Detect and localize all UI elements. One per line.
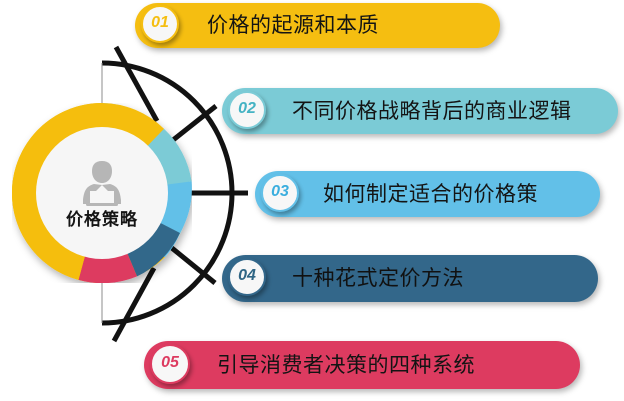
center-hub[interactable]: 价格策略 [12, 103, 192, 283]
item-badge-01[interactable]: 01 [141, 5, 179, 43]
businessperson-icon [76, 159, 128, 209]
item-bar-03[interactable]: 如何制定适合的价格策 [255, 171, 600, 217]
item-badge-04[interactable]: 04 [228, 258, 266, 296]
item-badge-02[interactable]: 02 [228, 91, 266, 129]
infographic-canvas: 价格策略 价格的起源和本质 01 不同价格战略背后的商业逻辑 02 如何制定适合… [0, 0, 624, 401]
item-label-02: 不同价格战略背后的商业逻辑 [292, 101, 572, 122]
item-badge-05[interactable]: 05 [150, 344, 190, 384]
item-label-01: 价格的起源和本质 [207, 15, 379, 36]
item-bar-01[interactable]: 价格的起源和本质 [135, 3, 500, 48]
item-number-05: 05 [161, 355, 179, 371]
item-number-04: 04 [238, 268, 256, 284]
item-label-04: 十种花式定价方法 [292, 268, 464, 289]
item-number-02: 02 [238, 101, 256, 117]
item-bar-04[interactable]: 十种花式定价方法 [222, 255, 598, 302]
item-label-05: 引导消费者决策的四种系统 [217, 355, 475, 376]
item-label-03: 如何制定适合的价格策 [323, 184, 538, 205]
item-badge-03[interactable]: 03 [261, 174, 299, 212]
center-content: 价格策略 [37, 128, 167, 258]
item-bar-02[interactable]: 不同价格战略背后的商业逻辑 [222, 88, 618, 134]
item-bar-05[interactable]: 引导消费者决策的四种系统 [144, 341, 580, 389]
item-number-03: 03 [271, 184, 289, 200]
item-number-01: 01 [151, 15, 169, 31]
center-title: 价格策略 [66, 211, 138, 228]
